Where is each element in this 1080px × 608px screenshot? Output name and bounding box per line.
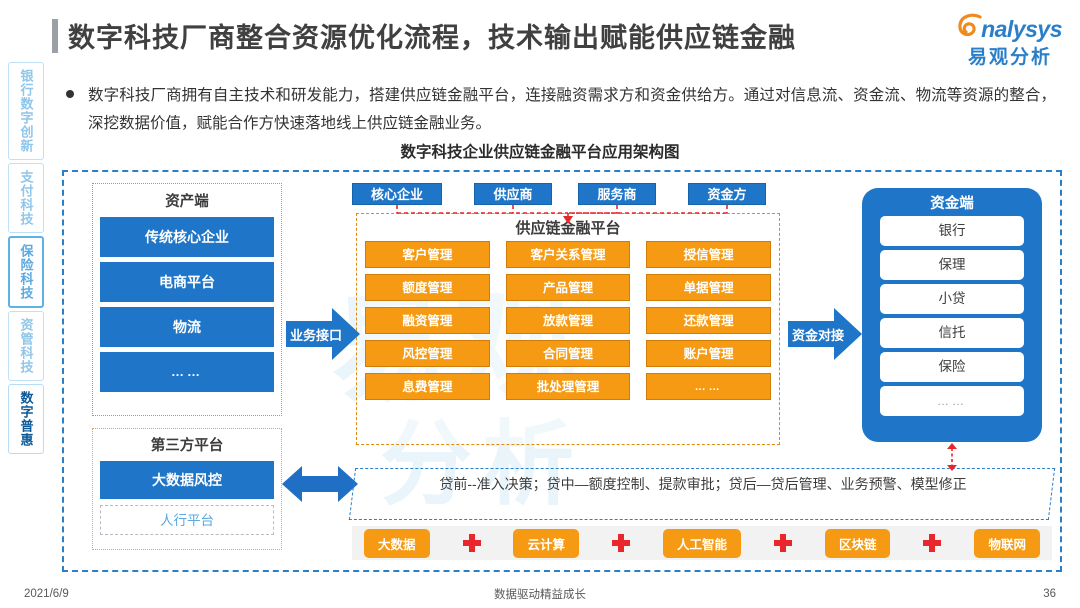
page-title-bar: 数字科技厂商整合资源优化流程，技术输出赋能供应链金融 (52, 16, 796, 55)
role-tag-supplier[interactable]: 供应商 (474, 183, 552, 205)
intro-block: 数字科技厂商拥有自主技术和研发能力，搭建供应链金融平台，连接融资需求方和资金供给… (66, 82, 1056, 138)
third-party-title: 第三方平台 (100, 434, 274, 455)
plus-icon-4 (923, 534, 941, 552)
module-batch-processing-management[interactable]: 批处理管理 (506, 373, 631, 400)
logo-chinese-name: 易观分析 (958, 42, 1062, 69)
fund-docking-arrow: 资金对接 (788, 305, 864, 363)
fund-item-factoring[interactable]: 保理 (880, 250, 1024, 280)
fund-item-microloan[interactable]: 小贷 (880, 284, 1024, 314)
business-interface-label: 业务接口 (290, 325, 342, 344)
asset-item-logistics[interactable]: 物流 (100, 307, 274, 347)
bullet-point-icon (66, 90, 74, 98)
role-tag-service-provider[interactable]: 服务商 (578, 183, 656, 205)
module-contract-management[interactable]: 合同管理 (506, 340, 631, 367)
fund-item-bank[interactable]: 银行 (880, 216, 1024, 246)
fund-item-more[interactable]: …… (880, 386, 1024, 416)
fund-side-title: 资金端 (880, 192, 1024, 213)
title-accent-bar (52, 19, 58, 53)
module-credit-granting[interactable]: 授信管理 (646, 241, 771, 268)
plus-icon-2 (612, 534, 630, 552)
footer-page-number: 36 (1043, 588, 1056, 600)
page-footer: 2021/6/9 数据驱动精益成长 36 (0, 586, 1080, 602)
third-party-bidirectional-arrow (282, 462, 358, 506)
tech-tag-cloud-computing[interactable]: 云计算 (513, 529, 579, 558)
fund-item-insurance[interactable]: 保险 (880, 352, 1024, 382)
module-quota-management[interactable]: 额度管理 (365, 274, 490, 301)
platform-module-grid: 客户管理 客户关系管理 授信管理 额度管理 产品管理 单据管理 融资管理 放款管… (365, 241, 771, 400)
analysys-logo: nalysys 易观分析 (958, 11, 1062, 69)
module-repayment-management[interactable]: 还款管理 (646, 307, 771, 334)
sidebar-item-insurance-tech[interactable]: 保险科技 (8, 236, 44, 308)
module-loan-disbursement-management[interactable]: 放款管理 (506, 307, 631, 334)
module-document-management[interactable]: 单据管理 (646, 274, 771, 301)
asset-item-more[interactable]: …… (100, 352, 274, 392)
asset-side-title: 资产端 (100, 190, 274, 211)
category-sidebar: 银行数字创新 支付科技 保险科技 资管科技 数字普惠 (8, 62, 44, 454)
footer-date: 2021/6/9 (24, 588, 69, 600)
sidebar-item-payment-tech[interactable]: 支付科技 (8, 163, 44, 233)
callout-text: 贷前--准入决策；贷中—额度控制、提款审批；贷后—贷后管理、业务预警、模型修正 (370, 474, 1036, 495)
supply-chain-finance-platform: 供应链金融平台 客户管理 客户关系管理 授信管理 额度管理 产品管理 单据管理 … (356, 213, 780, 445)
tech-stack-strip: 大数据 云计算 人工智能 区块链 物联网 (352, 526, 1052, 560)
diagram-title: 数字科技企业供应链金融平台应用架构图 (0, 140, 1080, 162)
logo-wordmark: nalysys (981, 17, 1062, 41)
plus-icon-1 (463, 534, 481, 552)
plus-icon-3 (774, 534, 792, 552)
module-financing-management[interactable]: 融资管理 (365, 307, 490, 334)
asset-item-traditional-core-enterprise[interactable]: 传统核心企业 (100, 217, 274, 257)
tech-tag-ai[interactable]: 人工智能 (663, 529, 741, 558)
role-tag-capital-provider[interactable]: 资金方 (688, 183, 766, 205)
module-account-management[interactable]: 账户管理 (646, 340, 771, 367)
tech-tag-iot[interactable]: 物联网 (974, 529, 1040, 558)
module-more[interactable]: …… (646, 373, 771, 400)
third-party-pboc-platform[interactable]: 人行平台 (100, 505, 274, 535)
business-interface-arrow: 业务接口 (286, 305, 362, 363)
intro-paragraph: 数字科技厂商拥有自主技术和研发能力，搭建供应链金融平台，连接融资需求方和资金供给… (88, 82, 1056, 138)
asset-side-panel: 资产端 传统核心企业 电商平台 物流 …… (92, 183, 282, 416)
fund-item-trust[interactable]: 信托 (880, 318, 1024, 348)
module-product-management[interactable]: 产品管理 (506, 274, 631, 301)
page-title: 数字科技厂商整合资源优化流程，技术输出赋能供应链金融 (68, 16, 796, 55)
loan-lifecycle-callout: 贷前--准入决策；贷中—额度控制、提款审批；贷后—贷后管理、业务预警、模型修正 (352, 468, 1052, 520)
tech-tag-blockchain[interactable]: 区块链 (825, 529, 891, 558)
tech-tag-big-data[interactable]: 大数据 (364, 529, 430, 558)
asset-item-ecommerce-platform[interactable]: 电商平台 (100, 262, 274, 302)
sidebar-item-asset-management-tech[interactable]: 资管科技 (8, 311, 44, 381)
module-crm[interactable]: 客户关系管理 (506, 241, 631, 268)
third-party-panel: 第三方平台 大数据风控 人行平台 (92, 428, 282, 550)
fund-side-panel: 资金端 银行 保理 小贷 信托 保险 …… (862, 188, 1042, 442)
fund-callout-bidirectional-arrow (944, 443, 960, 471)
module-interest-fee-management[interactable]: 息费管理 (365, 373, 490, 400)
role-tag-row: 核心企业 供应商 服务商 资金方 (352, 183, 782, 205)
role-tag-core-enterprise[interactable]: 核心企业 (352, 183, 442, 205)
footer-slogan: 数据驱动精益成长 (0, 586, 1080, 602)
sidebar-item-digital-inclusive-finance[interactable]: 数字普惠 (8, 384, 44, 454)
third-party-bigdata-risk-control[interactable]: 大数据风控 (100, 461, 274, 499)
fund-docking-label: 资金对接 (792, 325, 844, 344)
module-customer-management[interactable]: 客户管理 (365, 241, 490, 268)
module-risk-control-management[interactable]: 风控管理 (365, 340, 490, 367)
tag-connector-lines (352, 205, 782, 225)
